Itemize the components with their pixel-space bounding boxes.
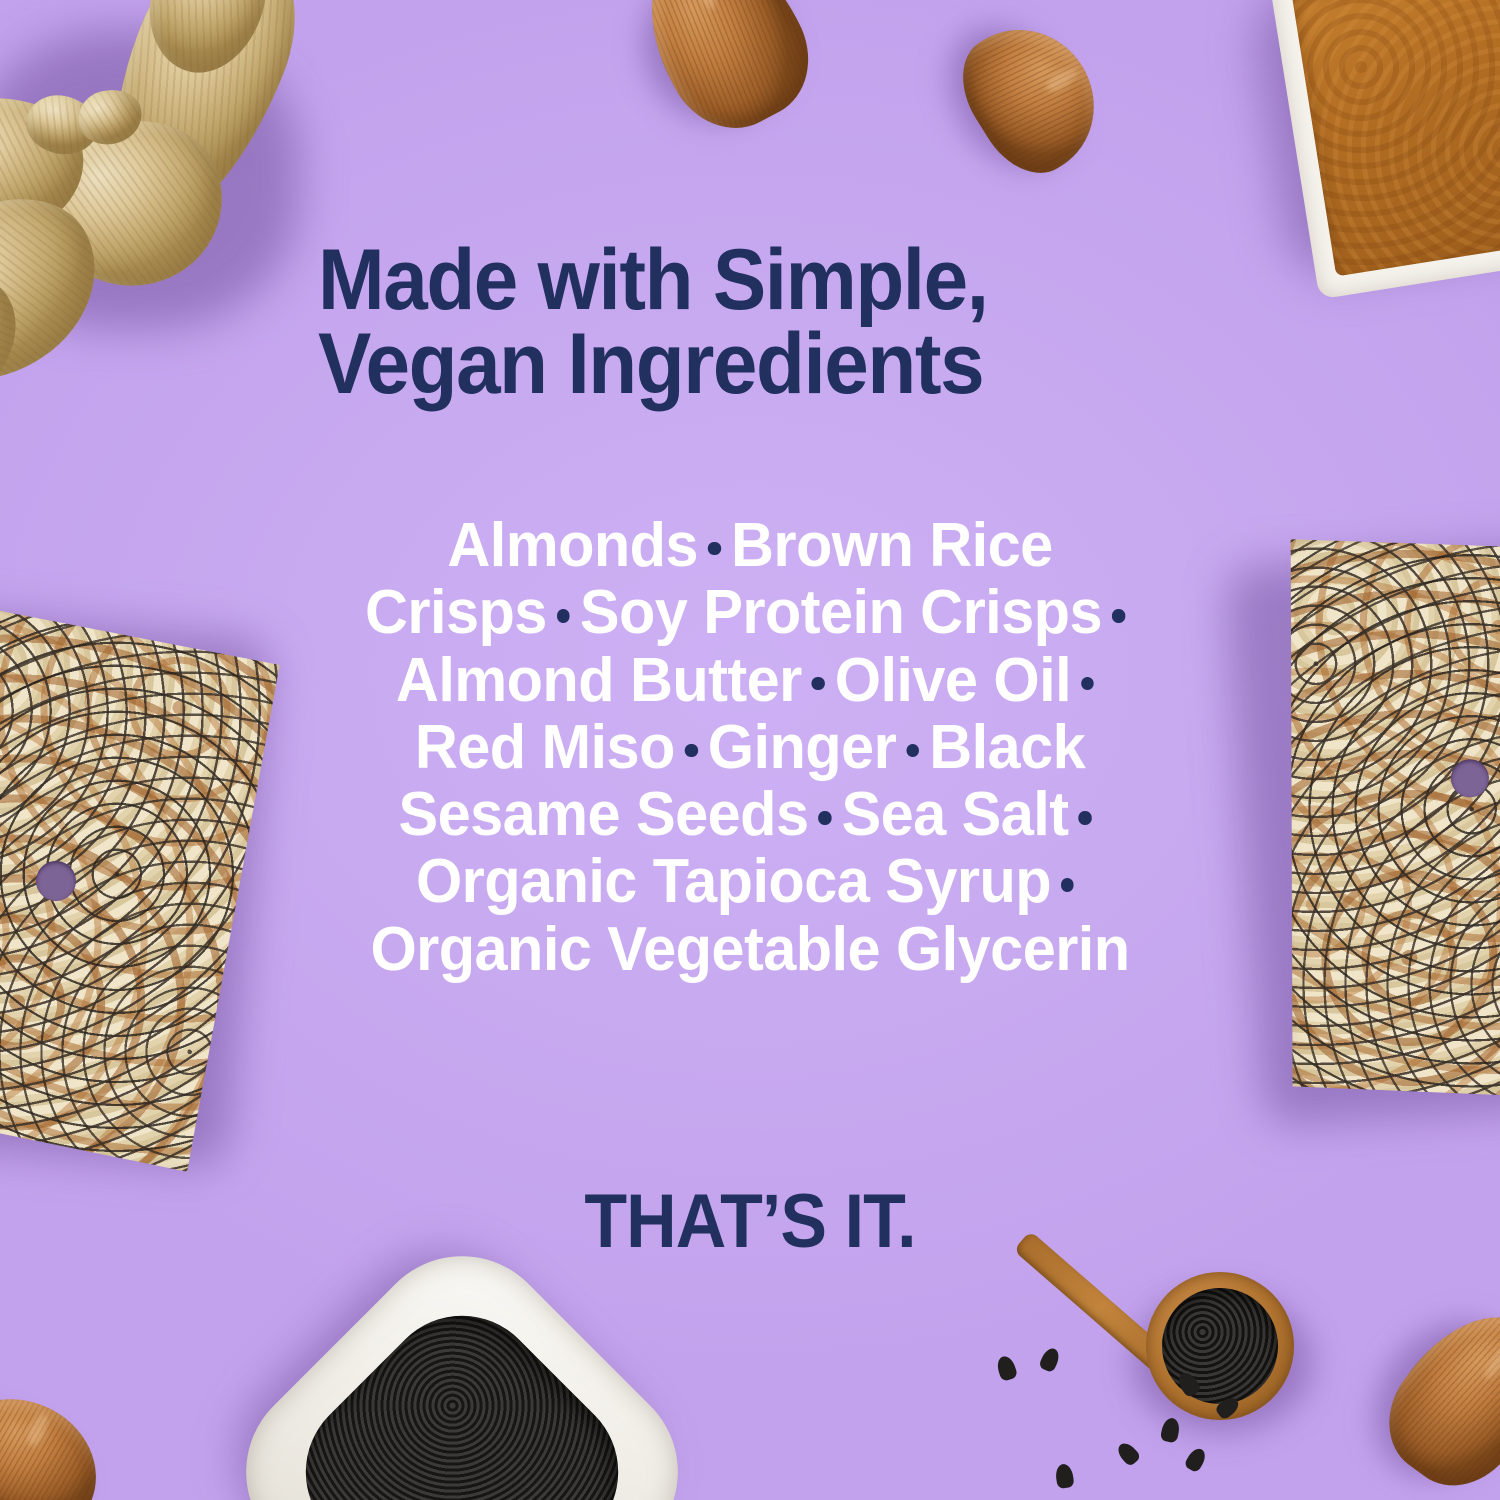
ingredient-line: AlmondsBrown Rice (270, 512, 1230, 579)
bullet-separator-icon (708, 542, 721, 555)
ingredient-name: Almonds (447, 511, 698, 580)
ingredient-line: Red MisoGingerBlack (270, 714, 1230, 781)
ingredient-name: Soy Protein Crisps (580, 578, 1102, 647)
ingredient-line: Organic Tapioca Syrup (270, 848, 1230, 915)
ingredient-line: Organic Vegetable Glycerin (270, 916, 1230, 983)
ingredient-name: Olive Oil (835, 646, 1071, 715)
ingredient-name: Sesame Seeds (398, 780, 808, 849)
ingredient-name: Red Miso (415, 713, 675, 782)
text-content: Made with Simple, Vegan Ingredients Almo… (0, 0, 1500, 1500)
bullet-separator-icon (906, 744, 919, 757)
bullet-separator-icon (557, 609, 570, 622)
bullet-separator-icon (819, 811, 832, 824)
ingredient-name: Brown Rice (731, 511, 1053, 580)
ingredient-line: CrispsSoy Protein Crisps (270, 579, 1230, 646)
bullet-separator-icon (1061, 878, 1074, 891)
bullet-separator-icon (1079, 811, 1092, 824)
bullet-separator-icon (1112, 609, 1125, 622)
ingredient-list: AlmondsBrown RiceCrispsSoy Protein Crisp… (270, 512, 1230, 983)
ingredient-name: Almond Butter (396, 646, 802, 715)
bullet-separator-icon (812, 677, 825, 690)
ingredient-line: Sesame SeedsSea Salt (270, 781, 1230, 848)
ingredient-name: Crisps (365, 578, 547, 647)
product-ingredient-graphic: Made with Simple, Vegan Ingredients Almo… (0, 0, 1500, 1500)
tagline: THAT’S IT. (60, 1178, 1440, 1265)
ingredient-name: Organic Vegetable Glycerin (370, 915, 1129, 984)
headline-line-2: Vegan Ingredients (318, 322, 1155, 406)
ingredient-name: Organic Tapioca Syrup (416, 847, 1051, 916)
ingredient-name: Black (929, 713, 1085, 782)
bullet-separator-icon (685, 744, 698, 757)
headline-line-1: Made with Simple, (318, 238, 1155, 322)
ingredient-name: Ginger (708, 713, 896, 782)
ingredient-name: Sea Salt (842, 780, 1069, 849)
page-title: Made with Simple, Vegan Ingredients (318, 238, 1155, 407)
ingredient-line: Almond ButterOlive Oil (270, 647, 1230, 714)
bullet-separator-icon (1081, 677, 1094, 690)
